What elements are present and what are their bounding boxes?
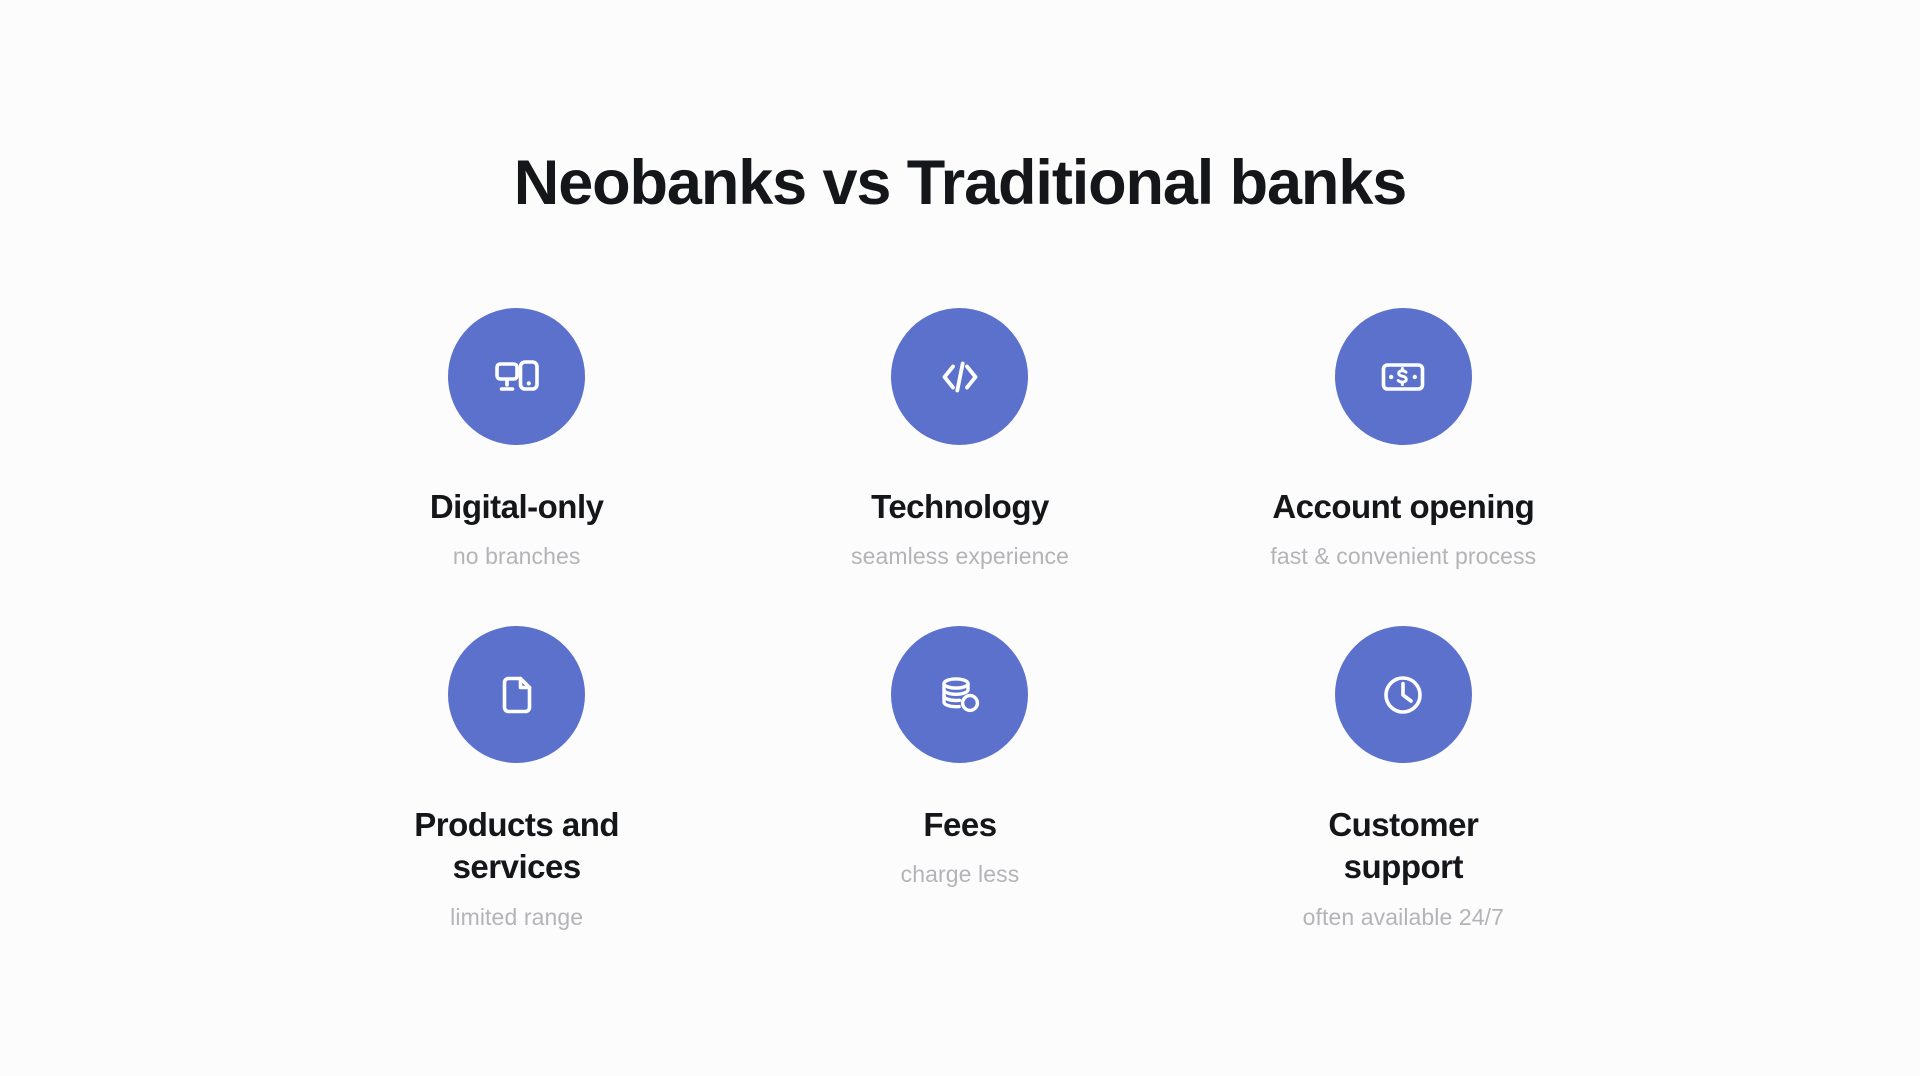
code-icon: [934, 351, 986, 403]
feature-title: Account opening: [1272, 486, 1534, 528]
feature-title: Technology: [871, 486, 1049, 528]
coins-icon-badge: [891, 626, 1028, 763]
feature-card-customer-support[interactable]: Customer support often available 24/7: [1182, 626, 1625, 944]
feature-title: Products and services: [384, 804, 649, 888]
feature-subtitle: seamless experience: [851, 542, 1069, 572]
features-grid: Digital-only no branches Technology seam…: [295, 308, 1625, 944]
feature-card-fees[interactable]: Fees charge less: [738, 626, 1181, 944]
coins-icon: [934, 669, 986, 721]
slide-root: Neobanks vs Traditional banks Digital-on…: [0, 0, 1920, 1076]
feature-subtitle: limited range: [450, 903, 583, 933]
feature-title: Customer support: [1271, 804, 1536, 888]
document-icon-badge: [448, 626, 585, 763]
banknote-dollar-icon: [1377, 351, 1429, 403]
code-icon-badge: [891, 308, 1028, 445]
feature-card-products-and-services[interactable]: Products and services limited range: [295, 626, 738, 944]
clock-icon-badge: [1335, 626, 1472, 763]
feature-card-technology[interactable]: Technology seamless experience: [738, 308, 1181, 626]
feature-card-account-opening[interactable]: Account opening fast & convenient proces…: [1182, 308, 1625, 626]
banknote-dollar-icon-badge: [1335, 308, 1472, 445]
clock-icon: [1377, 669, 1429, 721]
devices-icon-badge: [448, 308, 585, 445]
feature-subtitle: no branches: [453, 542, 581, 572]
document-icon: [491, 669, 543, 721]
feature-subtitle: often available 24/7: [1303, 903, 1505, 933]
feature-subtitle: charge less: [901, 860, 1020, 890]
feature-subtitle: fast & convenient process: [1270, 542, 1536, 572]
devices-icon: [491, 351, 543, 403]
feature-card-digital-only[interactable]: Digital-only no branches: [295, 308, 738, 626]
feature-title: Digital-only: [430, 486, 604, 528]
page-title: Neobanks vs Traditional banks: [514, 150, 1406, 216]
feature-title: Fees: [923, 804, 996, 846]
